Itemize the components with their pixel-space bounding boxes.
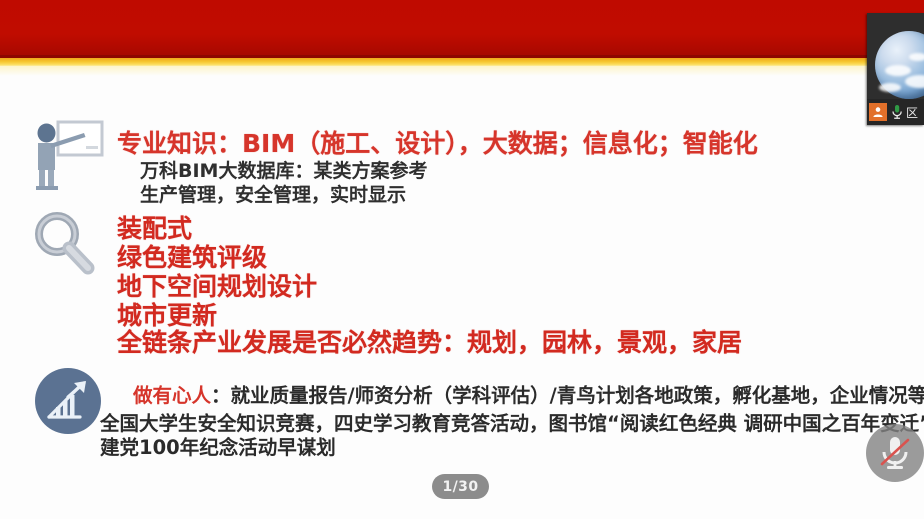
earth-globe-image	[875, 31, 924, 99]
participant-name: 区	[906, 104, 918, 121]
slide-canvas: 专业知识：BIM（施工、设计），大数据；信息化；智能化 万科BIM大数据库：某类…	[0, 0, 924, 519]
screen-share-view: 专业知识：BIM（施工、设计），大数据；信息化；智能化 万科BIM大数据库：某类…	[0, 0, 924, 519]
person-avatar-icon	[869, 103, 887, 121]
block-1-subline-2: 生产管理，安全管理，实时显示	[140, 180, 406, 207]
slide-header-red-band	[0, 0, 924, 57]
page-indicator: 1/30	[432, 474, 489, 499]
block-3-lead-rest: ：就业质量报告/师资分析（学科评估）/青鸟计划各地政策，孵化基地，企业情况等	[211, 384, 924, 407]
block-1-subline-1: 万科BIM大数据库：某类方案参考	[140, 156, 427, 183]
microphone-muted-icon[interactable]	[866, 424, 924, 482]
growth-chart-icon	[34, 367, 102, 439]
block-3-lead-line: 做有心人：就业质量报告/师资分析（学科评估）/青鸟计划各地政策，孵化基地，企业情…	[133, 379, 924, 408]
slide-header-fade	[0, 66, 924, 76]
block-3-line-2: 建党100年纪念活动早谋划	[100, 431, 336, 460]
participant-video-thumbnail[interactable]: 区	[867, 13, 924, 125]
block-3-lead-red: 做有心人	[133, 384, 211, 407]
slide-header-gold-stripe	[0, 58, 924, 66]
magnifier-icon	[28, 208, 102, 288]
teacher-whiteboard-icon	[28, 116, 106, 198]
participant-info-bar: 区	[867, 99, 924, 125]
block-1-heading: 专业知识：BIM（施工、设计），大数据；信息化；智能化	[117, 124, 758, 160]
block-2-line-5: 全链条产业发展是否必然趋势：规划，园林，景观，家居	[117, 323, 742, 359]
microphone-icon	[889, 102, 905, 122]
